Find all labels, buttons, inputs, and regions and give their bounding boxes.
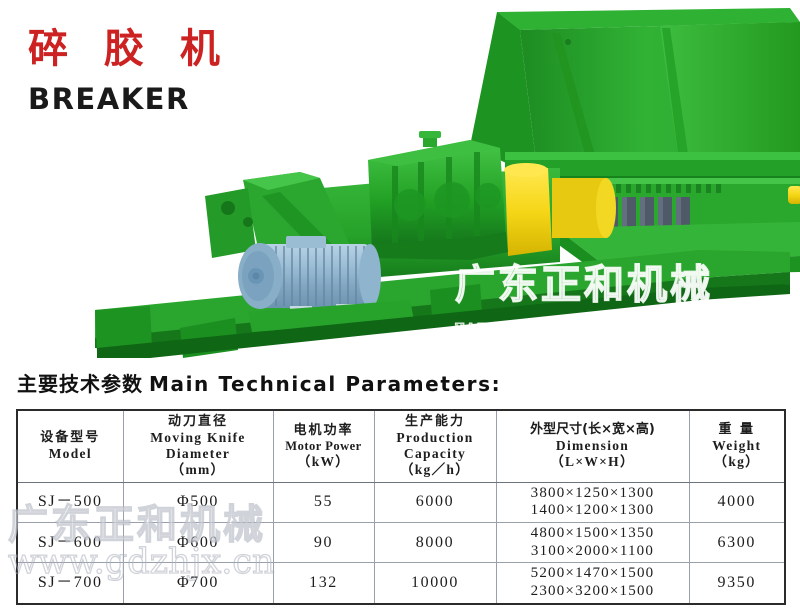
cell-weight: 6300 <box>689 522 785 562</box>
cell-knife-diameter: Φ500 <box>123 482 273 522</box>
column-header-capacity-unit: （kg／h） <box>377 462 494 478</box>
cell-knife-diameter: Φ600 <box>123 522 273 562</box>
column-header-motor-power: 电机功率 Motor Power （kW） <box>273 410 374 482</box>
column-header-motor-power-unit: （kW） <box>276 454 372 470</box>
cell-dimension: 4800×1500×1350 3100×2000×1100 <box>496 522 689 562</box>
column-header-weight-en: Weight <box>692 438 783 454</box>
column-header-dimension-unit: （L×W×H） <box>499 454 687 470</box>
technical-parameters-table: 设备型号 Model 动刀直径 Moving Knife Diameter （m… <box>16 409 786 605</box>
column-header-dimension-en: Dimension <box>499 438 687 454</box>
column-header-capacity-en: Production <box>377 430 494 446</box>
cell-model: SJ－500 <box>17 482 123 522</box>
column-header-weight-unit: （kg） <box>692 454 783 470</box>
product-spec-page: 碎 胶 机 BREAKER 广东正和机械 www.gdzhjx.cn 广东正和机… <box>0 0 800 612</box>
cell-model: SJ－700 <box>17 563 123 604</box>
table-row: SJ－500 Φ500 55 6000 3800×1250×1300 1400×… <box>17 482 785 522</box>
table-row: SJ－700 Φ700 132 10000 5200×1470×1500 230… <box>17 563 785 604</box>
column-header-motor-power-cn: 电机功率 <box>276 423 372 439</box>
cell-dimension-line2: 2300×3200×1500 <box>499 583 687 601</box>
column-header-capacity-cn: 生产能力 <box>377 414 494 430</box>
spec-heading-chinese: 主要技术参数 <box>17 372 143 396</box>
column-header-knife-diameter: 动刀直径 Moving Knife Diameter （mm） <box>123 410 273 482</box>
column-header-knife-diameter-en: Moving Knife <box>126 430 271 446</box>
spec-heading-english: Main Technical Parameters: <box>149 372 501 396</box>
column-header-capacity-en2: Capacity <box>377 446 494 462</box>
cell-dimension: 5200×1470×1500 2300×3200×1500 <box>496 563 689 604</box>
cell-capacity: 10000 <box>374 563 496 604</box>
cell-motor-power: 90 <box>273 522 374 562</box>
cell-capacity: 6000 <box>374 482 496 522</box>
column-header-weight-cn: 重 量 <box>692 422 783 438</box>
column-header-knife-diameter-en2: Diameter <box>126 446 271 462</box>
cell-dimension-line2: 1400×1200×1300 <box>499 502 687 520</box>
cell-motor-power: 55 <box>273 482 374 522</box>
column-header-weight: 重 量 Weight （kg） <box>689 410 785 482</box>
cell-motor-power: 132 <box>273 563 374 604</box>
cell-dimension-line1: 3800×1250×1300 <box>499 485 687 503</box>
cell-knife-diameter: Φ700 <box>123 563 273 604</box>
cell-weight: 9350 <box>689 563 785 604</box>
column-header-model-cn: 设备型号 <box>20 430 121 446</box>
cell-model: SJ－600 <box>17 522 123 562</box>
cell-capacity: 8000 <box>374 522 496 562</box>
cell-dimension-line1: 4800×1500×1350 <box>499 525 687 543</box>
cell-dimension-line1: 5200×1470×1500 <box>499 565 687 583</box>
column-header-dimension-cn: 外型尺寸(长×宽×高) <box>499 422 687 438</box>
cell-weight: 4000 <box>689 482 785 522</box>
column-header-knife-diameter-unit: （mm） <box>126 462 271 478</box>
column-header-dimension: 外型尺寸(长×宽×高) Dimension （L×W×H） <box>496 410 689 482</box>
table-header-row: 设备型号 Model 动刀直径 Moving Knife Diameter （m… <box>17 410 785 482</box>
title-chinese: 碎 胶 机 <box>28 28 231 70</box>
title-english: BREAKER <box>28 82 231 116</box>
spec-section-heading: 主要技术参数Main Technical Parameters: <box>17 368 501 397</box>
column-header-knife-diameter-cn: 动刀直径 <box>126 414 271 430</box>
column-header-capacity: 生产能力 Production Capacity （kg／h） <box>374 410 496 482</box>
cell-dimension: 3800×1250×1300 1400×1200×1300 <box>496 482 689 522</box>
column-header-model-en: Model <box>20 446 121 462</box>
page-title: 碎 胶 机 BREAKER <box>28 28 231 116</box>
column-header-model: 设备型号 Model <box>17 410 123 482</box>
column-header-motor-power-en: Motor Power <box>276 439 372 454</box>
cell-dimension-line2: 3100×2000×1100 <box>499 543 687 561</box>
table-row: SJ－600 Φ600 90 8000 4800×1500×1350 3100×… <box>17 522 785 562</box>
